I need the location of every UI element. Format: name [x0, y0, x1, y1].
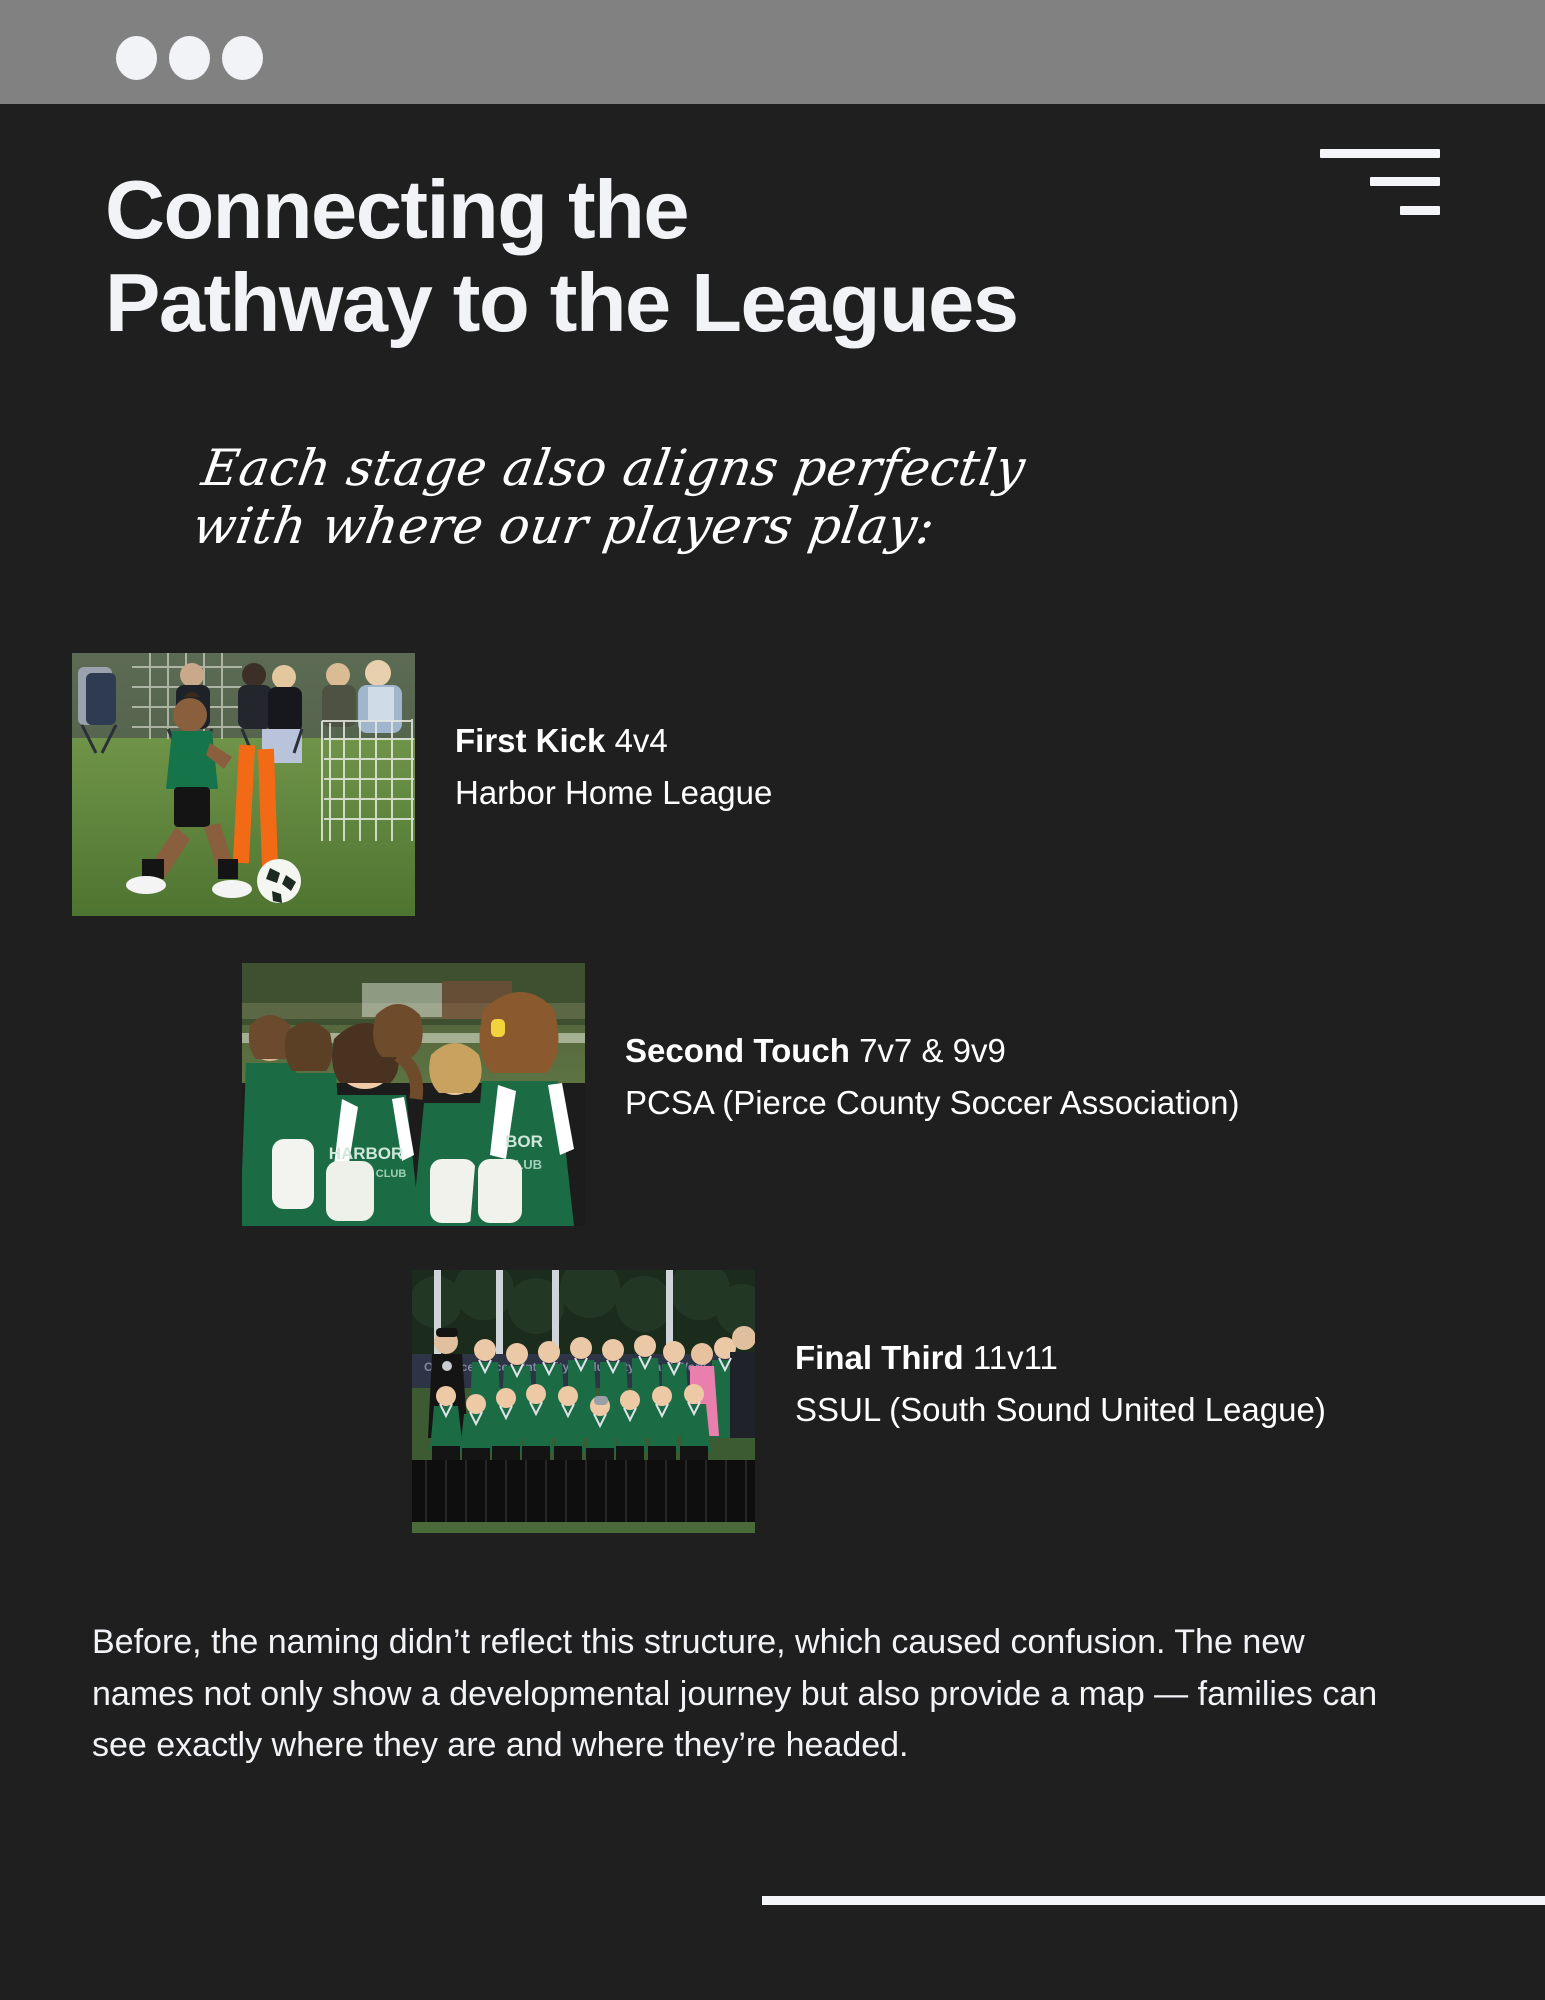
slide-canvas: Connecting the Pathway to the Leagues Ea… — [0, 104, 1545, 2000]
stage-title-final-third: Final Third 11v11 — [795, 1337, 1326, 1378]
stage-caption-first-kick: First Kick 4v4 Harbor Home League — [455, 720, 772, 814]
stage-name-final-third: Final Third — [795, 1339, 964, 1376]
stage-format-final-third: 11v11 — [973, 1339, 1058, 1376]
stage-photo-second-touch: HARBOR SOCCER CLUB — [242, 963, 585, 1226]
page-title-line-2: Pathway to the Leagues — [105, 257, 1435, 350]
window-controls — [116, 36, 263, 80]
stage-league-final-third: SSUL (South Sound United League) — [795, 1389, 1326, 1430]
stage-row-first-kick: First Kick 4v4 Harbor Home League — [72, 653, 1472, 916]
stage-title-first-kick: First Kick 4v4 — [455, 720, 772, 761]
stage-caption-second-touch: Second Touch 7v7 & 9v9 PCSA (Pierce Coun… — [625, 1030, 1239, 1124]
window-control-dot-1[interactable] — [116, 36, 157, 80]
stage-title-second-touch: Second Touch 7v7 & 9v9 — [625, 1030, 1239, 1071]
stage-photo-first-kick — [72, 653, 415, 916]
page-title-line-1: Connecting the — [105, 164, 1435, 257]
page-title: Connecting the Pathway to the Leagues — [105, 164, 1435, 350]
page-subtitle: Each stage also aligns perfectly with wh… — [189, 439, 1207, 555]
stage-league-second-touch: PCSA (Pierce County Soccer Association) — [625, 1082, 1239, 1123]
stage-row-second-touch: HARBOR SOCCER CLUB — [242, 963, 1492, 1226]
stage-format-second-touch: 7v7 & 9v9 — [859, 1032, 1006, 1069]
stage-caption-final-third: Final Third 11v11 SSUL (South Sound Unit… — [795, 1337, 1326, 1431]
svg-text:HARBOR: HARBOR — [329, 1144, 404, 1163]
stage-photo-final-third: OExcellence IntegrityInclusivity Hard Wo… — [412, 1270, 755, 1533]
stage-name-second-touch: Second Touch — [625, 1032, 850, 1069]
window-control-dot-3[interactable] — [222, 36, 263, 80]
svg-text:BOR: BOR — [505, 1132, 543, 1151]
page-subtitle-line-1: Each stage also aligns perfectly — [198, 439, 1207, 497]
stage-format-first-kick: 4v4 — [615, 722, 668, 759]
page-subtitle-line-2: with where our players play: — [189, 497, 1198, 555]
window-control-dot-2[interactable] — [169, 36, 210, 80]
body-paragraph: Before, the naming didn’t reflect this s… — [92, 1617, 1412, 1772]
footer-divider — [762, 1896, 1545, 1905]
stage-league-first-kick: Harbor Home League — [455, 772, 772, 813]
window-titlebar — [0, 0, 1545, 104]
stage-row-final-third: OExcellence IntegrityInclusivity Hard Wo… — [412, 1270, 1502, 1533]
stage-name-first-kick: First Kick — [455, 722, 605, 759]
hamburger-line-1 — [1320, 149, 1440, 158]
